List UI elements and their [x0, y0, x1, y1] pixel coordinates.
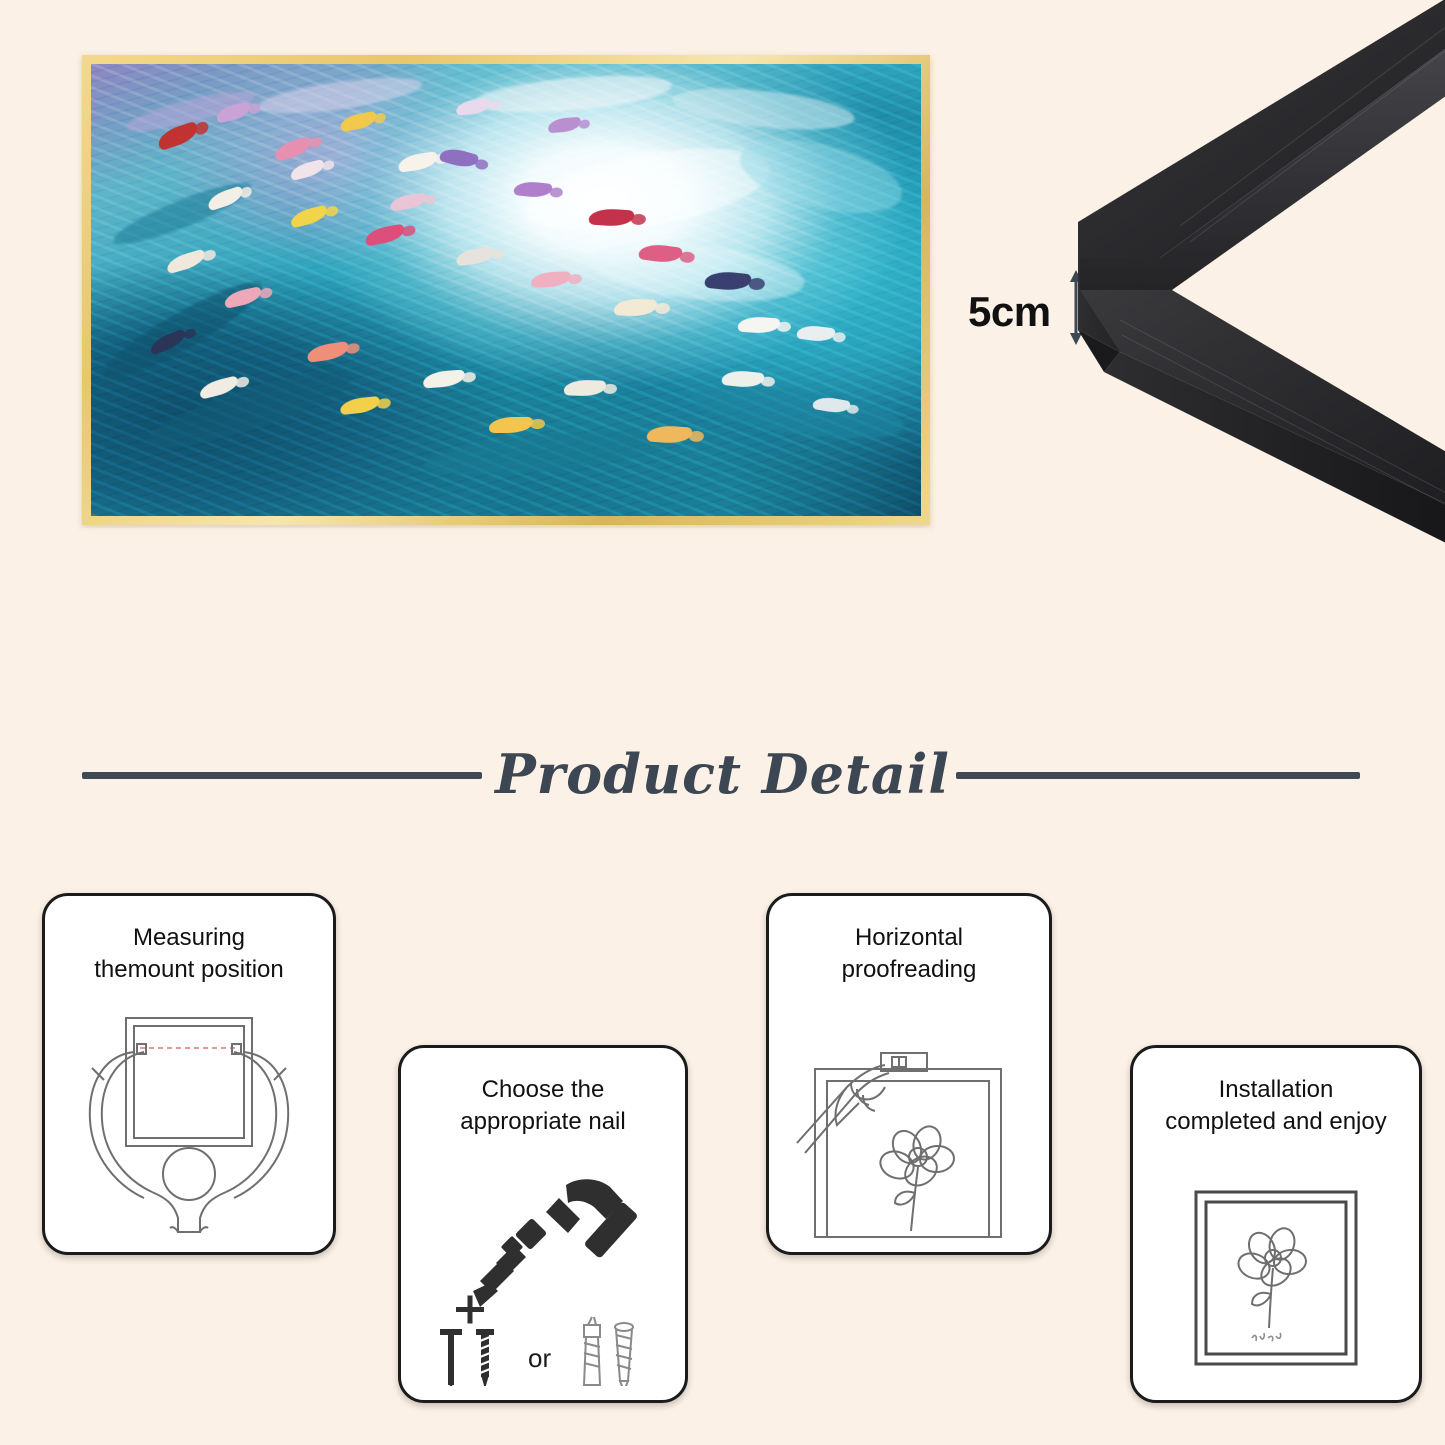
black-wood-frame-corner [1060, 0, 1445, 560]
card-measuring[interactable]: Measuring themount position [42, 893, 336, 1255]
signature-icon [1252, 1333, 1281, 1341]
painting-canvas [91, 64, 921, 516]
product-detail-page: 5cm [0, 0, 1445, 1445]
page-title: Product Detail [0, 742, 1445, 806]
card-measuring-title: Measuring themount position [59, 922, 319, 986]
framed-flower-artwork-diagram [1133, 1186, 1419, 1386]
card-done[interactable]: Installation completed and enjoy [1130, 1045, 1422, 1403]
depth-label: 5cm [968, 288, 1051, 336]
card-nail[interactable]: Choose the appropriate nail [398, 1045, 688, 1403]
or-label: or [528, 1343, 551, 1373]
gold-frame [82, 55, 930, 525]
card-nail-title: Choose the appropriate nail [415, 1074, 671, 1138]
card-level[interactable]: Horizontal proofreading [766, 893, 1052, 1255]
card-level-title: Horizontal proofreading [783, 922, 1035, 986]
palette-knife-strokes [91, 64, 921, 516]
person-holding-frame-diagram [45, 1008, 333, 1238]
hand-spirit-level-on-frame-diagram [769, 1043, 1049, 1238]
artwork-reflection [82, 528, 930, 858]
framed-artwork [82, 55, 930, 525]
hammer-nail-screw-diagram: or [401, 1171, 685, 1386]
card-done-title: Installation completed and enjoy [1147, 1074, 1405, 1138]
